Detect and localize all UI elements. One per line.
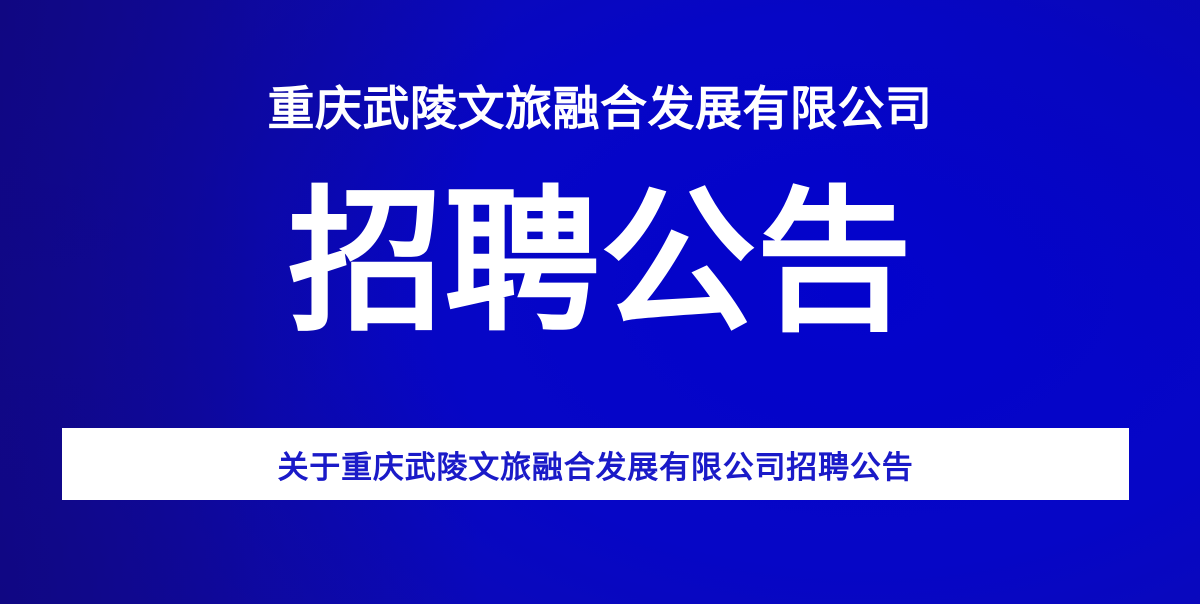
poster-content: 重庆武陵文旅融合发展有限公司 招聘公告 关于重庆武陵文旅融合发展有限公司招聘公告 bbox=[0, 0, 1200, 604]
announcement-banner: 关于重庆武陵文旅融合发展有限公司招聘公告 bbox=[62, 428, 1129, 500]
announcement-banner-text: 关于重庆武陵文旅融合发展有限公司招聘公告 bbox=[278, 442, 914, 487]
recruitment-poster: 重庆武陵文旅融合发展有限公司 招聘公告 关于重庆武陵文旅融合发展有限公司招聘公告 bbox=[0, 0, 1200, 604]
company-name: 重庆武陵文旅融合发展有限公司 bbox=[0, 84, 1200, 137]
page-title: 招聘公告 bbox=[0, 183, 1200, 342]
